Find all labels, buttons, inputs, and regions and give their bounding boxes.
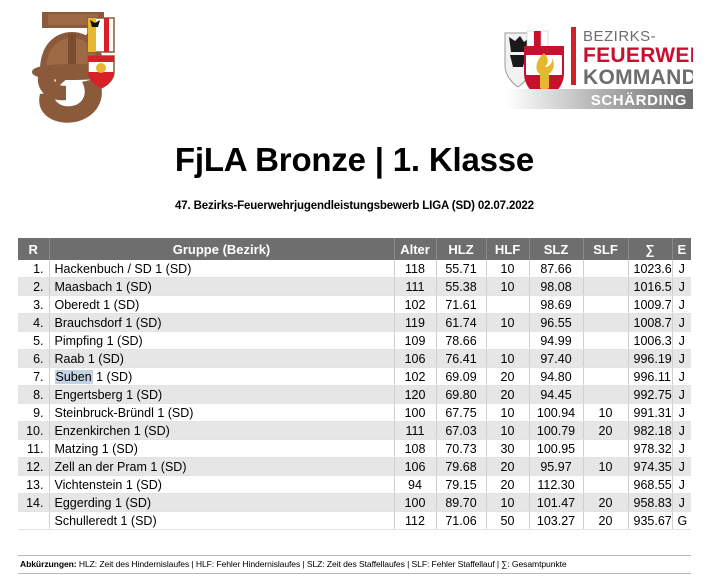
cell-sum: 1009.70 [628,296,672,314]
cell-sum: 968.55 [628,476,672,494]
footnote-label: Abkürzungen: [20,559,77,569]
cell-hlf [486,296,529,314]
cell-hlz: 69.80 [436,386,486,404]
cell-slz: 95.97 [529,458,583,476]
cell-slf [583,314,628,332]
cell-hlz: 61.74 [436,314,486,332]
svg-text:KOMMANDO: KOMMANDO [583,66,693,89]
column-header-slz[interactable]: SLZ [529,238,583,260]
cell-hlz: 78.66 [436,332,486,350]
cell-hlf: 20 [486,368,529,386]
cell-slf [583,260,628,278]
selected-text: Suben [55,370,93,384]
cell-group: Hackenbuch / SD 1 (SD) [49,260,394,278]
cell-alter: 100 [394,494,436,512]
cell-group: Schulleredt 1 (SD) [49,512,394,530]
cell-slz: 97.40 [529,350,583,368]
cell-slf [583,476,628,494]
cell-e: J [672,350,691,368]
cell-e: J [672,296,691,314]
cell-slf: 20 [583,494,628,512]
cell-alter: 112 [394,512,436,530]
cell-slf [583,350,628,368]
cell-sum: 992.75 [628,386,672,404]
results-table: R Gruppe (Bezirk) Alter HLZ HLF SLZ SLF … [18,238,691,530]
cell-alter: 102 [394,296,436,314]
table-row[interactable]: 13.Vichtenstein 1 (SD)9479.1520112.30968… [18,476,691,494]
cell-slz: 101.47 [529,494,583,512]
cell-e: J [672,314,691,332]
cell-slz: 103.27 [529,512,583,530]
cell-hlf: 10 [486,494,529,512]
cell-hlf [486,332,529,350]
cell-hlf: 10 [486,350,529,368]
table-row[interactable]: 14.Eggerding 1 (SD)10089.7010101.4720958… [18,494,691,512]
cell-sum: 935.67 [628,512,672,530]
table-row[interactable]: 5.Pimpfing 1 (SD)10978.6694.991006.35J [18,332,691,350]
results-table-container: R Gruppe (Bezirk) Alter HLZ HLF SLZ SLF … [18,238,691,530]
cell-slf: 10 [583,458,628,476]
page-subtitle: 47. Bezirks-Feuerwehrjugendleistungsbewe… [0,200,709,212]
table-header-row: R Gruppe (Bezirk) Alter HLZ HLF SLZ SLF … [18,238,691,260]
cell-e: G [672,512,691,530]
cell-slz: 100.95 [529,440,583,458]
title-block: FjLA Bronze | 1. Klasse 47. Bezirks-Feue… [0,130,709,212]
cell-rank: 13. [18,476,49,494]
cell-alter: 94 [394,476,436,494]
cell-e: J [672,332,691,350]
bfkdo-schaerding-logo: BEZIRKS- FEUERWEHR KOMMANDO SCHÄRDING [497,17,693,112]
table-row[interactable]: 3.Oberedt 1 (SD)10271.6198.691009.70J [18,296,691,314]
cell-rank: 9. [18,404,49,422]
cell-e: J [672,458,691,476]
table-row[interactable]: 11.Matzing 1 (SD)10870.7330100.95978.32J [18,440,691,458]
cell-hlf: 10 [486,278,529,296]
cell-alter: 119 [394,314,436,332]
cell-sum: 982.18 [628,422,672,440]
cell-group: Brauchsdorf 1 (SD) [49,314,394,332]
cell-hlz: 55.71 [436,260,486,278]
cell-rank: 2. [18,278,49,296]
cell-hlz: 71.61 [436,296,486,314]
cell-sum: 1006.35 [628,332,672,350]
abbreviations-footnote: Abkürzungen: HLZ: Zeit des Hindernislauf… [18,555,691,574]
cell-group: Matzing 1 (SD) [49,440,394,458]
cell-hlf: 10 [486,260,529,278]
cell-slf [583,386,628,404]
cell-alter: 111 [394,278,436,296]
cell-sum: 996.19 [628,350,672,368]
cell-hlz: 79.15 [436,476,486,494]
cell-slf [583,296,628,314]
cell-sum: 978.32 [628,440,672,458]
cell-group: Engertsberg 1 (SD) [49,386,394,404]
cell-slz: 98.69 [529,296,583,314]
cell-hlz: 76.41 [436,350,486,368]
column-header-group[interactable]: Gruppe (Bezirk) [49,238,394,260]
cell-group: Maasbach 1 (SD) [49,278,394,296]
cell-slz: 87.66 [529,260,583,278]
cell-e: J [672,422,691,440]
cell-slz: 100.79 [529,422,583,440]
cell-group: Raab 1 (SD) [49,350,394,368]
cell-sum: 1023.63 [628,260,672,278]
cell-alter: 102 [394,368,436,386]
cell-hlf: 30 [486,440,529,458]
cell-rank: 4. [18,314,49,332]
cell-e: J [672,368,691,386]
table-row[interactable]: 2.Maasbach 1 (SD)11155.381098.081016.54J [18,278,691,296]
cell-slf [583,440,628,458]
cell-rank: 5. [18,332,49,350]
cell-slf [583,368,628,386]
cell-sum: 1008.71 [628,314,672,332]
cell-rank: 3. [18,296,49,314]
table-row[interactable]: Schulleredt 1 (SD)11271.0650103.2720935.… [18,512,691,530]
cell-group: Eggerding 1 (SD) [49,494,394,512]
cell-sum: 958.83 [628,494,672,512]
table-row[interactable]: 1.Hackenbuch / SD 1 (SD)11855.711087.661… [18,260,691,278]
cell-group: Vichtenstein 1 (SD) [49,476,394,494]
column-header-sum[interactable]: ∑ [628,238,672,260]
cell-hlz: 70.73 [436,440,486,458]
page-title: FjLA Bronze | 1. Klasse [0,142,709,178]
cell-slz: 94.80 [529,368,583,386]
cell-hlz: 67.75 [436,404,486,422]
cell-sum: 974.35 [628,458,672,476]
cell-slf: 20 [583,422,628,440]
cell-hlz: 79.68 [436,458,486,476]
table-row[interactable]: 8.Engertsberg 1 (SD)12069.802094.45992.7… [18,386,691,404]
cell-slf: 20 [583,512,628,530]
cell-alter: 109 [394,332,436,350]
cell-slz: 94.45 [529,386,583,404]
cell-e: J [672,278,691,296]
cell-alter: 100 [394,404,436,422]
cell-slz: 94.99 [529,332,583,350]
cell-hlf: 10 [486,404,529,422]
cell-e: J [672,260,691,278]
cell-hlf: 10 [486,422,529,440]
cell-alter: 106 [394,350,436,368]
cell-slf: 10 [583,404,628,422]
cell-hlf: 20 [486,386,529,404]
cell-slf [583,278,628,296]
cell-hlf: 20 [486,458,529,476]
table-row[interactable]: 7.Suben 1 (SD)10269.092094.80996.11J [18,368,691,386]
cell-rank: 10. [18,422,49,440]
cell-sum: 1016.54 [628,278,672,296]
cell-rank: 8. [18,386,49,404]
feuerwehrjugend-helmet-logo [20,6,132,126]
cell-hlz: 55.38 [436,278,486,296]
cell-rank: 14. [18,494,49,512]
page-header: BEZIRKS- FEUERWEHR KOMMANDO SCHÄRDING [0,0,709,130]
cell-alter: 120 [394,386,436,404]
cell-hlz: 67.03 [436,422,486,440]
cell-group: Zell an der Pram 1 (SD) [49,458,394,476]
cell-rank: 11. [18,440,49,458]
cell-slz: 112.30 [529,476,583,494]
cell-e: J [672,386,691,404]
column-header-e[interactable]: E [672,238,691,260]
cell-hlz: 69.09 [436,368,486,386]
column-header-hlf[interactable]: HLF [486,238,529,260]
cell-e: J [672,404,691,422]
table-row[interactable]: 6.Raab 1 (SD)10676.411097.40996.19J [18,350,691,368]
cell-slz: 98.08 [529,278,583,296]
cell-hlz: 71.06 [436,512,486,530]
cell-e: J [672,440,691,458]
cell-hlf: 50 [486,512,529,530]
cell-rank: 12. [18,458,49,476]
cell-group: Steinbruck-Bründl 1 (SD) [49,404,394,422]
cell-rank [18,512,49,530]
svg-text:FEUERWEHR: FEUERWEHR [583,44,693,67]
table-row[interactable]: 9.Steinbruck-Bründl 1 (SD)10067.7510100.… [18,404,691,422]
footnote-text: HLZ: Zeit des Hindernislaufes | HLF: Feh… [77,559,567,569]
cell-alter: 111 [394,422,436,440]
svg-text:SCHÄRDING: SCHÄRDING [591,92,687,109]
cell-hlz: 89.70 [436,494,486,512]
cell-slz: 96.55 [529,314,583,332]
cell-group: Oberedt 1 (SD) [49,296,394,314]
table-row[interactable]: 12.Zell an der Pram 1 (SD)10679.682095.9… [18,458,691,476]
cell-group: Enzenkirchen 1 (SD) [49,422,394,440]
cell-rank: 7. [18,368,49,386]
cell-group: Suben 1 (SD) [49,368,394,386]
cell-slz: 100.94 [529,404,583,422]
column-header-alter[interactable]: Alter [394,238,436,260]
cell-alter: 108 [394,440,436,458]
cell-alter: 106 [394,458,436,476]
cell-sum: 991.31 [628,404,672,422]
cell-e: J [672,476,691,494]
cell-sum: 996.11 [628,368,672,386]
column-header-hlz[interactable]: HLZ [436,238,486,260]
cell-hlf: 20 [486,476,529,494]
svg-text:BEZIRKS-: BEZIRKS- [583,28,656,45]
table-row[interactable]: 10.Enzenkirchen 1 (SD)11167.0310100.7920… [18,422,691,440]
cell-alter: 118 [394,260,436,278]
cell-rank: 1. [18,260,49,278]
cell-hlf: 10 [486,314,529,332]
cell-rank: 6. [18,350,49,368]
table-row[interactable]: 4.Brauchsdorf 1 (SD)11961.741096.551008.… [18,314,691,332]
column-header-slf[interactable]: SLF [583,238,628,260]
column-header-rank[interactable]: R [18,238,49,260]
cell-group: Pimpfing 1 (SD) [49,332,394,350]
cell-e: J [672,494,691,512]
results-table-body: 1.Hackenbuch / SD 1 (SD)11855.711087.661… [18,260,691,530]
cell-slf [583,332,628,350]
